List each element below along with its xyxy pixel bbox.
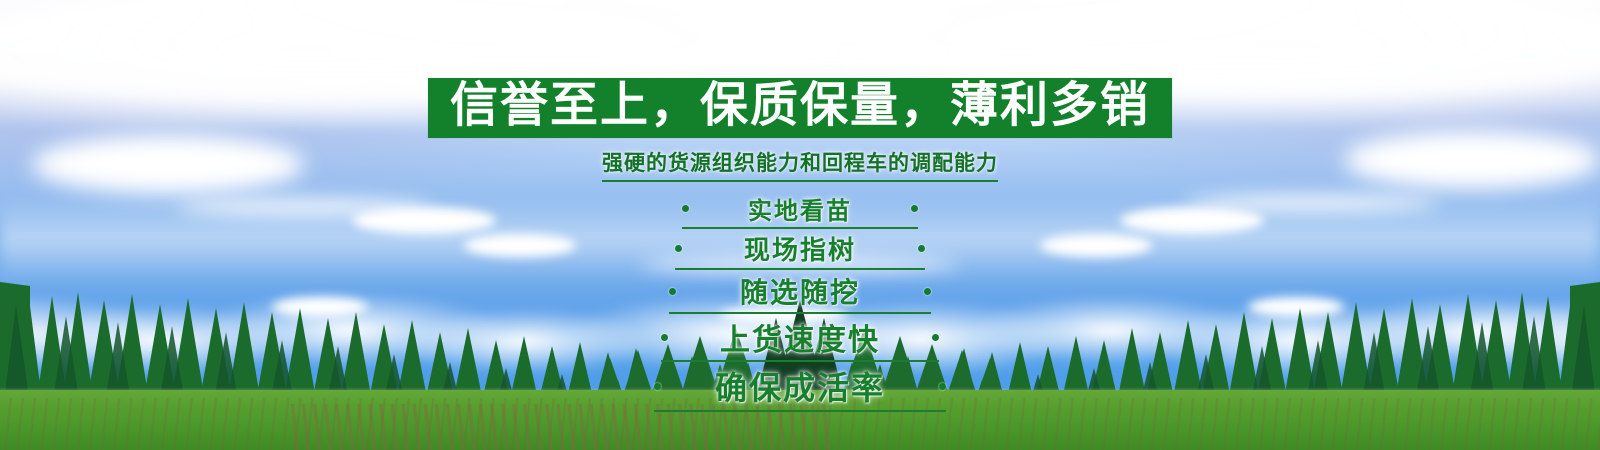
list-item: 随选随挖: [669, 271, 931, 314]
bullet-dot-icon: [682, 205, 689, 212]
list-item: 确保成活率: [654, 363, 946, 412]
list-item: 现场指树: [675, 230, 925, 270]
headline-bar: 信誉至上，保质保量，薄利多销: [428, 78, 1172, 138]
banner-content: 信誉至上，保质保量，薄利多销 强硬的货源组织能力和回程车的调配能力 实地看苗 现…: [0, 0, 1600, 450]
bullet-dot-icon: [669, 288, 676, 295]
list-item: 实地看苗: [682, 191, 918, 229]
promo-banner: 信誉至上，保质保量，薄利多销 强硬的货源组织能力和回程车的调配能力 实地看苗 现…: [0, 0, 1600, 450]
subtitle: 强硬的货源组织能力和回程车的调配能力: [602, 147, 998, 182]
bullet-dot-icon: [675, 245, 682, 252]
feature-label: 现场指树: [744, 230, 856, 267]
list-item: 上货速度快: [661, 315, 939, 362]
bullet-dot-icon: [661, 334, 668, 341]
bullet-dot-icon: [911, 205, 918, 212]
bullet-dot-icon: [654, 383, 661, 390]
feature-label: 实地看苗: [748, 191, 852, 226]
bullet-dot-icon: [918, 245, 925, 252]
feature-label: 随选随挖: [740, 271, 860, 311]
page-title: 信誉至上，保质保量，薄利多销: [450, 81, 1150, 129]
bullet-dot-icon: [924, 288, 931, 295]
feature-list: 实地看苗 现场指树 随选随挖 上货速度快 确保成活率: [654, 191, 946, 413]
feature-label: 确保成活率: [715, 363, 885, 409]
feature-label: 上货速度快: [720, 315, 880, 359]
bullet-dot-icon: [932, 334, 939, 341]
bullet-dot-icon: [939, 383, 946, 390]
